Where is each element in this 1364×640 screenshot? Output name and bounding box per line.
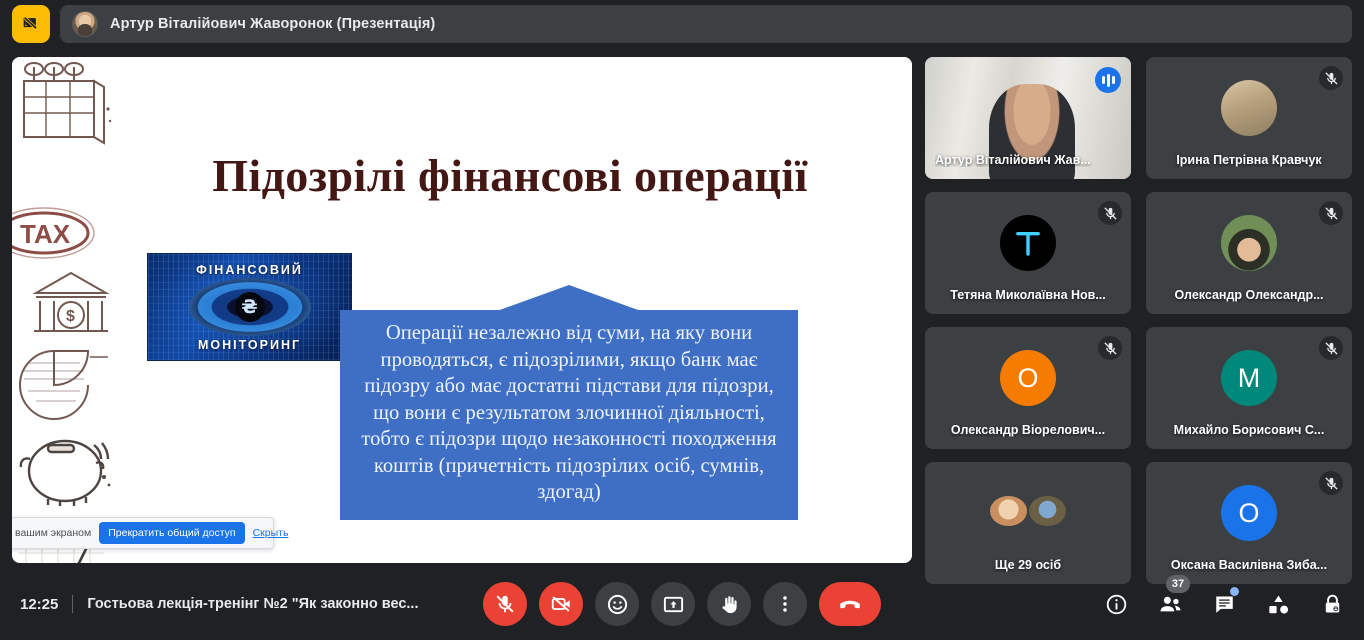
mic-off-icon <box>1319 66 1343 90</box>
meeting-title: Гостьова лекція-тренінг №2 "Як законно в… <box>87 596 418 612</box>
participant-tile[interactable]: О Оксана Василівна Зиба... <box>1146 462 1352 584</box>
callout-text: Операції незалежно від суми, на яку вони… <box>340 310 798 520</box>
end-call-button[interactable] <box>819 582 881 626</box>
participant-tile[interactable]: Олександр Олександр... <box>1146 192 1352 314</box>
bank-doodle-icon: $ <box>28 267 114 341</box>
stop-sharing-button[interactable]: Прекратить общий доступ <box>99 522 244 544</box>
financial-monitoring-image: ФІНАНСОВИЙ ₴ МОНІТОРИНГ <box>147 253 352 361</box>
activities-button[interactable] <box>1264 590 1292 618</box>
avatar <box>1000 215 1056 271</box>
bottom-bar: 12:25 Гостьова лекція-тренінг №2 "Як зак… <box>0 568 1364 640</box>
divider <box>72 595 73 613</box>
present-icon <box>662 593 685 616</box>
callout-arrow <box>497 285 641 311</box>
participant-tile[interactable]: Артур Віталійович Жав... <box>925 57 1131 179</box>
participant-name: Артур Віталійович Жав... <box>935 153 1121 167</box>
avatar: О <box>1221 485 1277 541</box>
reactions-button[interactable] <box>595 582 639 626</box>
participants-button[interactable]: 37 <box>1156 590 1184 618</box>
avatar: О <box>1000 350 1056 406</box>
participant-tile[interactable]: М Михайло Борисович С... <box>1146 327 1352 449</box>
meeting-details-button[interactable] <box>1102 590 1130 618</box>
more-options-button[interactable] <box>763 582 807 626</box>
piggy-bank-doodle-icon <box>18 429 118 511</box>
host-controls-button[interactable] <box>1318 590 1346 618</box>
svg-text:TAX: TAX <box>20 219 71 249</box>
chat-button[interactable] <box>1210 590 1238 618</box>
shared-screen[interactable]: TAX $ <box>12 57 912 563</box>
slide-decorations: TAX $ <box>12 57 124 563</box>
presentation-slide: TAX $ <box>12 57 912 563</box>
camera-off-icon <box>550 593 572 615</box>
hide-sharebar-link[interactable]: Скрыть <box>253 527 289 539</box>
participant-name: Олександр Олександр... <box>1154 288 1344 302</box>
mic-off-icon <box>1319 201 1343 225</box>
hryvnia-symbol: ₴ <box>235 292 265 322</box>
avatar: М <box>1221 350 1277 406</box>
presenter-name: Артур Віталійович Жаворонок (Презентація… <box>110 16 435 32</box>
presenter-chip[interactable]: Артур Віталійович Жаворонок (Презентація… <box>60 5 1352 43</box>
participant-name: Тетяна Миколаївна Нов... <box>933 288 1123 302</box>
eye-graphic: ₴ <box>189 278 311 336</box>
avatar <box>72 11 98 37</box>
chat-icon <box>1213 593 1236 616</box>
overflow-avatars <box>990 496 1066 526</box>
raise-hand-button[interactable] <box>707 582 751 626</box>
more-vertical-icon <box>774 593 796 615</box>
tax-doodle-icon: TAX <box>12 205 106 263</box>
hangup-icon <box>837 591 863 617</box>
calendar-doodle-icon <box>20 59 116 149</box>
slide-title: Підозрілі фінансові операції <box>130 149 890 202</box>
right-controls: 37 <box>1102 590 1346 618</box>
camera-off-button[interactable] <box>539 582 583 626</box>
share-notice-text: вашим экраном <box>15 527 91 539</box>
pie-chart-doodle-icon <box>14 347 110 421</box>
avatar <box>1221 215 1277 271</box>
participant-tile[interactable]: О Олександр Віорелович... <box>925 327 1131 449</box>
people-icon <box>1158 592 1183 617</box>
participant-tile[interactable]: Тетяна Миколаївна Нов... <box>925 192 1131 314</box>
call-controls <box>483 582 881 626</box>
image-top-text: ФІНАНСОВИЙ <box>148 263 351 277</box>
participants-count-badge: 37 <box>1166 575 1190 593</box>
participant-grid: Артур Віталійович Жав... Ірина Петрівна … <box>925 57 1352 584</box>
participant-name: Михайло Борисович С... <box>1154 423 1344 437</box>
microphone-off-button[interactable] <box>483 582 527 626</box>
letter-t-icon <box>1011 226 1045 260</box>
screen-share-notification-bar: вашим экраном Прекратить общий доступ Ск… <box>12 517 274 549</box>
participant-tile[interactable]: Ірина Петрівна Кравчук <box>1146 57 1352 179</box>
svg-text:$: $ <box>66 308 75 325</box>
mic-off-icon <box>1098 201 1122 225</box>
participant-name: Ірина Петрівна Кравчук <box>1154 153 1344 167</box>
emoji-icon <box>606 593 629 616</box>
meeting-window: Артур Віталійович Жаворонок (Презентація… <box>0 0 1364 640</box>
image-bottom-text: МОНІТОРИНГ <box>148 338 351 352</box>
mic-off-icon <box>494 593 516 615</box>
chat-unread-dot <box>1230 587 1239 596</box>
info-icon <box>1105 593 1128 616</box>
clock: 12:25 <box>20 596 58 613</box>
mic-off-icon <box>1319 336 1343 360</box>
mic-off-icon <box>1098 336 1122 360</box>
shapes-icon <box>1266 592 1291 617</box>
hand-icon <box>718 593 741 616</box>
stop-presenting-button[interactable] <box>12 5 50 43</box>
avatar <box>1221 80 1277 136</box>
lock-icon <box>1321 593 1344 616</box>
present-screen-button[interactable] <box>651 582 695 626</box>
speaking-indicator-icon <box>1095 67 1121 93</box>
top-bar: Артур Віталійович Жаворонок (Презентація… <box>0 0 1364 48</box>
participant-name: Олександр Віорелович... <box>933 423 1123 437</box>
stop-presenting-icon <box>21 14 41 34</box>
overflow-participants-tile[interactable]: Ще 29 осіб <box>925 462 1131 584</box>
mic-off-icon <box>1319 471 1343 495</box>
meeting-info: 12:25 Гостьова лекція-тренінг №2 "Як зак… <box>20 595 419 613</box>
